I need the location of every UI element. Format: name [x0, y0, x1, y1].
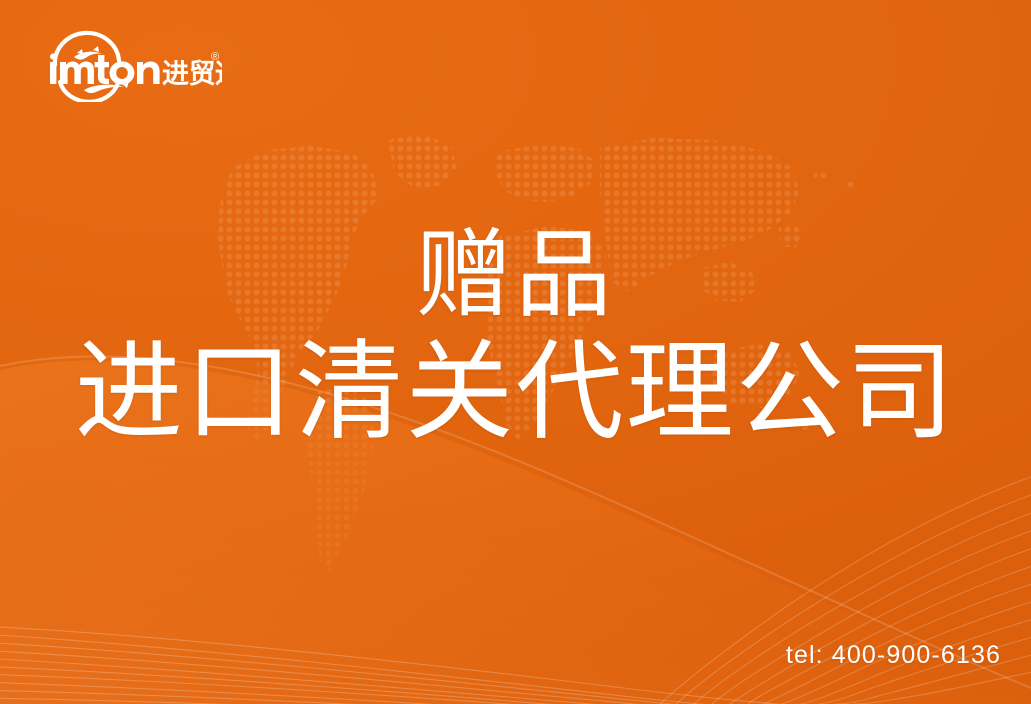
svg-text:进贸通: 进贸通 — [162, 59, 222, 89]
promo-banner: 进贸通 ® 赠品 进口清关代理公司 tel: 400-900-6136 — [0, 0, 1031, 704]
bird-icon — [74, 46, 102, 60]
logo-wordmark — [50, 54, 160, 85]
registered-trademark-icon: ® — [211, 51, 219, 63]
headline-line-2: 进口清关代理公司 — [0, 338, 1031, 446]
logo-chinese-text: 进贸通 — [162, 59, 222, 89]
headline-line-1: 赠品 — [0, 228, 1031, 324]
headline-block: 赠品 进口清关代理公司 — [0, 228, 1031, 446]
contact-phone: tel: 400-900-6136 — [786, 641, 1001, 670]
svg-text:®: ® — [211, 51, 219, 63]
company-logo[interactable]: 进贸通 ® — [36, 28, 222, 102]
